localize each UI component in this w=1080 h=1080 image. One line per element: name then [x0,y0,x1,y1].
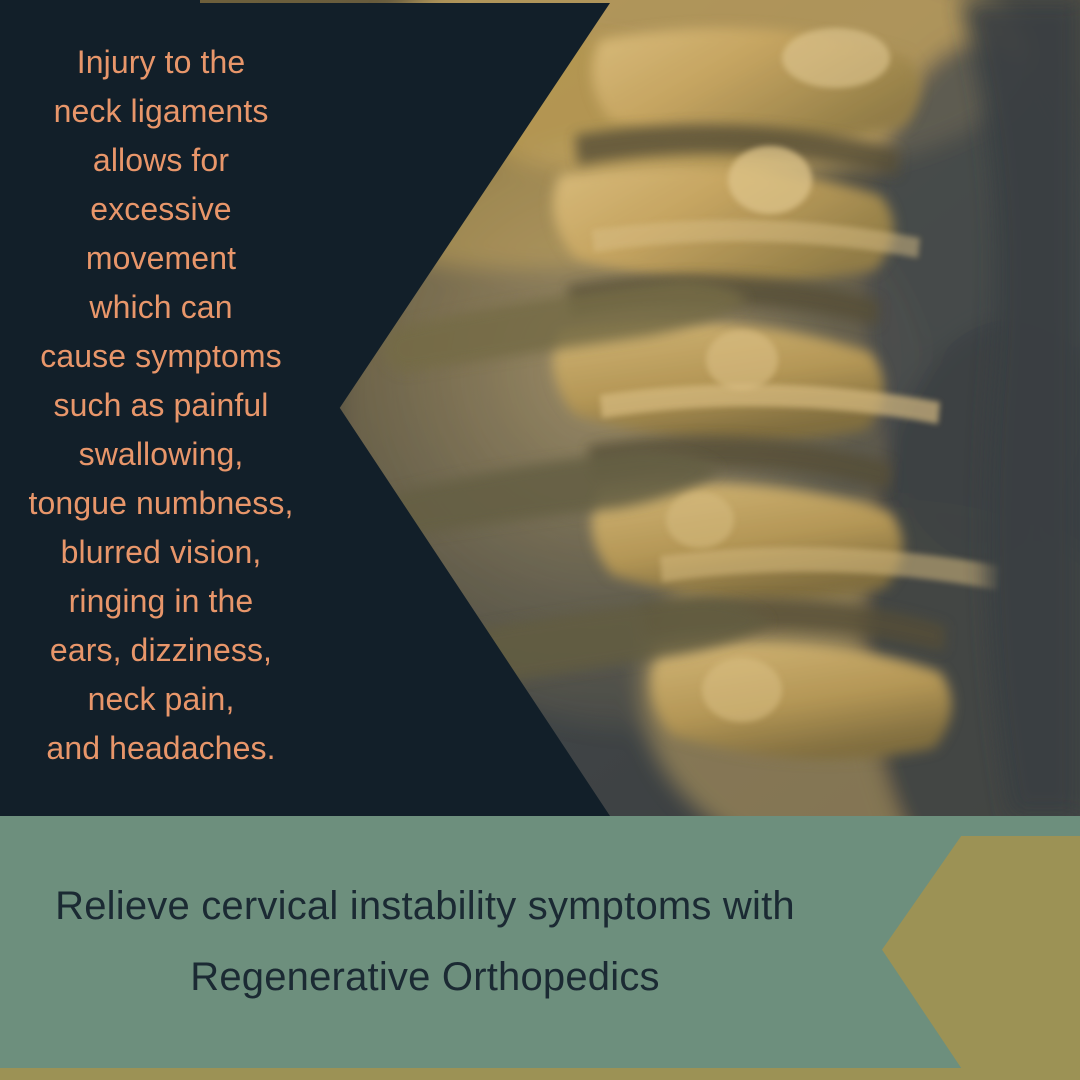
body-copy-line: cause symptoms [40,332,281,381]
body-copy-line: neck ligaments [54,87,269,136]
body-copy-line: blurred vision, [61,528,262,577]
body-copy-line: swallowing, [79,430,244,479]
body-copy-line: ringing in the [69,577,254,626]
body-copy-line: Injury to the [77,38,246,87]
gold-bottom-rule [0,1068,1080,1080]
media-region: Injury to the neck ligaments allows for … [0,0,1080,816]
caption-text-block: Relieve cervical instability symptoms wi… [0,816,850,1068]
body-copy-line: ears, dizziness, [50,626,272,675]
body-copy-line: movement [86,234,236,283]
poster-canvas: Injury to the neck ligaments allows for … [0,0,1080,1080]
gold-chevron-accent [882,836,1080,1068]
body-copy-line: neck pain, [88,675,235,724]
caption-line: Relieve cervical instability symptoms wi… [55,871,795,942]
caption-band: Relieve cervical instability symptoms wi… [0,816,1080,1068]
body-copy-line: which can [89,283,232,332]
caption-line: Regenerative Orthopedics [190,942,660,1013]
body-copy-line: excessive [90,185,231,234]
body-copy-line: allows for [93,136,229,185]
body-copy-line: tongue numbness, [29,479,294,528]
body-copy-line: such as painful [54,381,269,430]
body-copy-block: Injury to the neck ligaments allows for … [0,0,322,816]
body-copy-line: and headaches. [46,724,275,773]
